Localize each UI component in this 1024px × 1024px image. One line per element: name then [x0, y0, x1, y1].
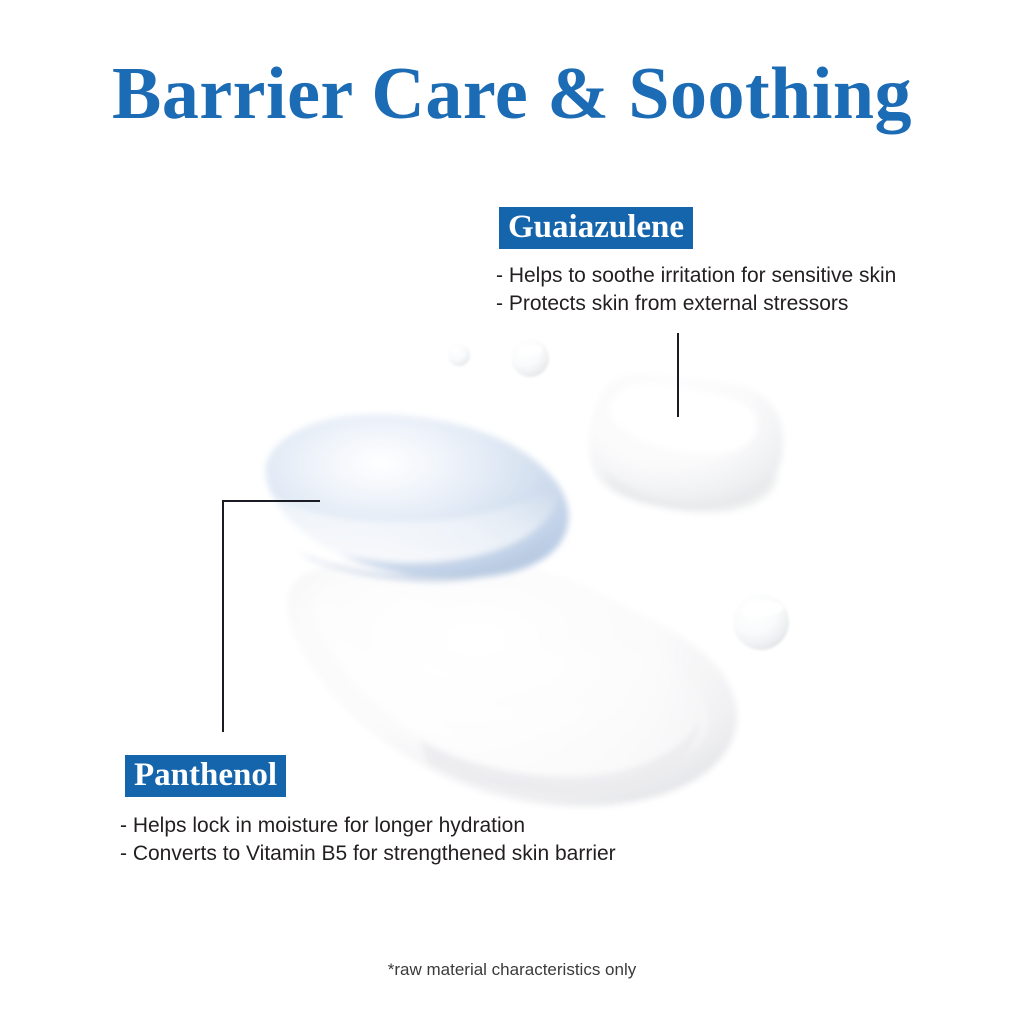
ingredient-name-panthenol: Panthenol: [125, 755, 286, 797]
cosmetic-texture-artwork: [0, 0, 1024, 1024]
ingredient-name-guaiazulene: Guaiazulene: [499, 207, 693, 249]
bullet-item: - Helps lock in moisture for longer hydr…: [120, 812, 616, 840]
droplet-medium-top: [511, 339, 549, 377]
leader-line-guaiazulene: [677, 333, 679, 417]
bullet-item: - Converts to Vitamin B5 for strengthene…: [120, 840, 616, 868]
page-title: Barrier Care & Soothing: [0, 52, 1024, 137]
leader-line-panthenol-horizontal: [222, 500, 320, 502]
ingredient-bullets-guaiazulene: - Helps to soothe irritation for sensiti…: [496, 262, 896, 318]
footnote: *raw material characteristics only: [0, 960, 1024, 980]
bullet-item: - Helps to soothe irritation for sensiti…: [496, 262, 896, 290]
blue-cream-swatch: [266, 414, 569, 582]
droplet-right: [733, 594, 789, 650]
infographic-page: Barrier Care & Soothing Guaiazulene - He…: [0, 0, 1024, 1024]
clear-gel-blob: [589, 374, 783, 513]
ingredient-bullets-panthenol: - Helps lock in moisture for longer hydr…: [120, 812, 616, 868]
white-cream-pool: [287, 553, 737, 806]
droplet-small-top: [448, 344, 470, 366]
leader-line-panthenol-vertical: [222, 500, 224, 732]
bullet-item: - Protects skin from external stressors: [496, 290, 896, 318]
